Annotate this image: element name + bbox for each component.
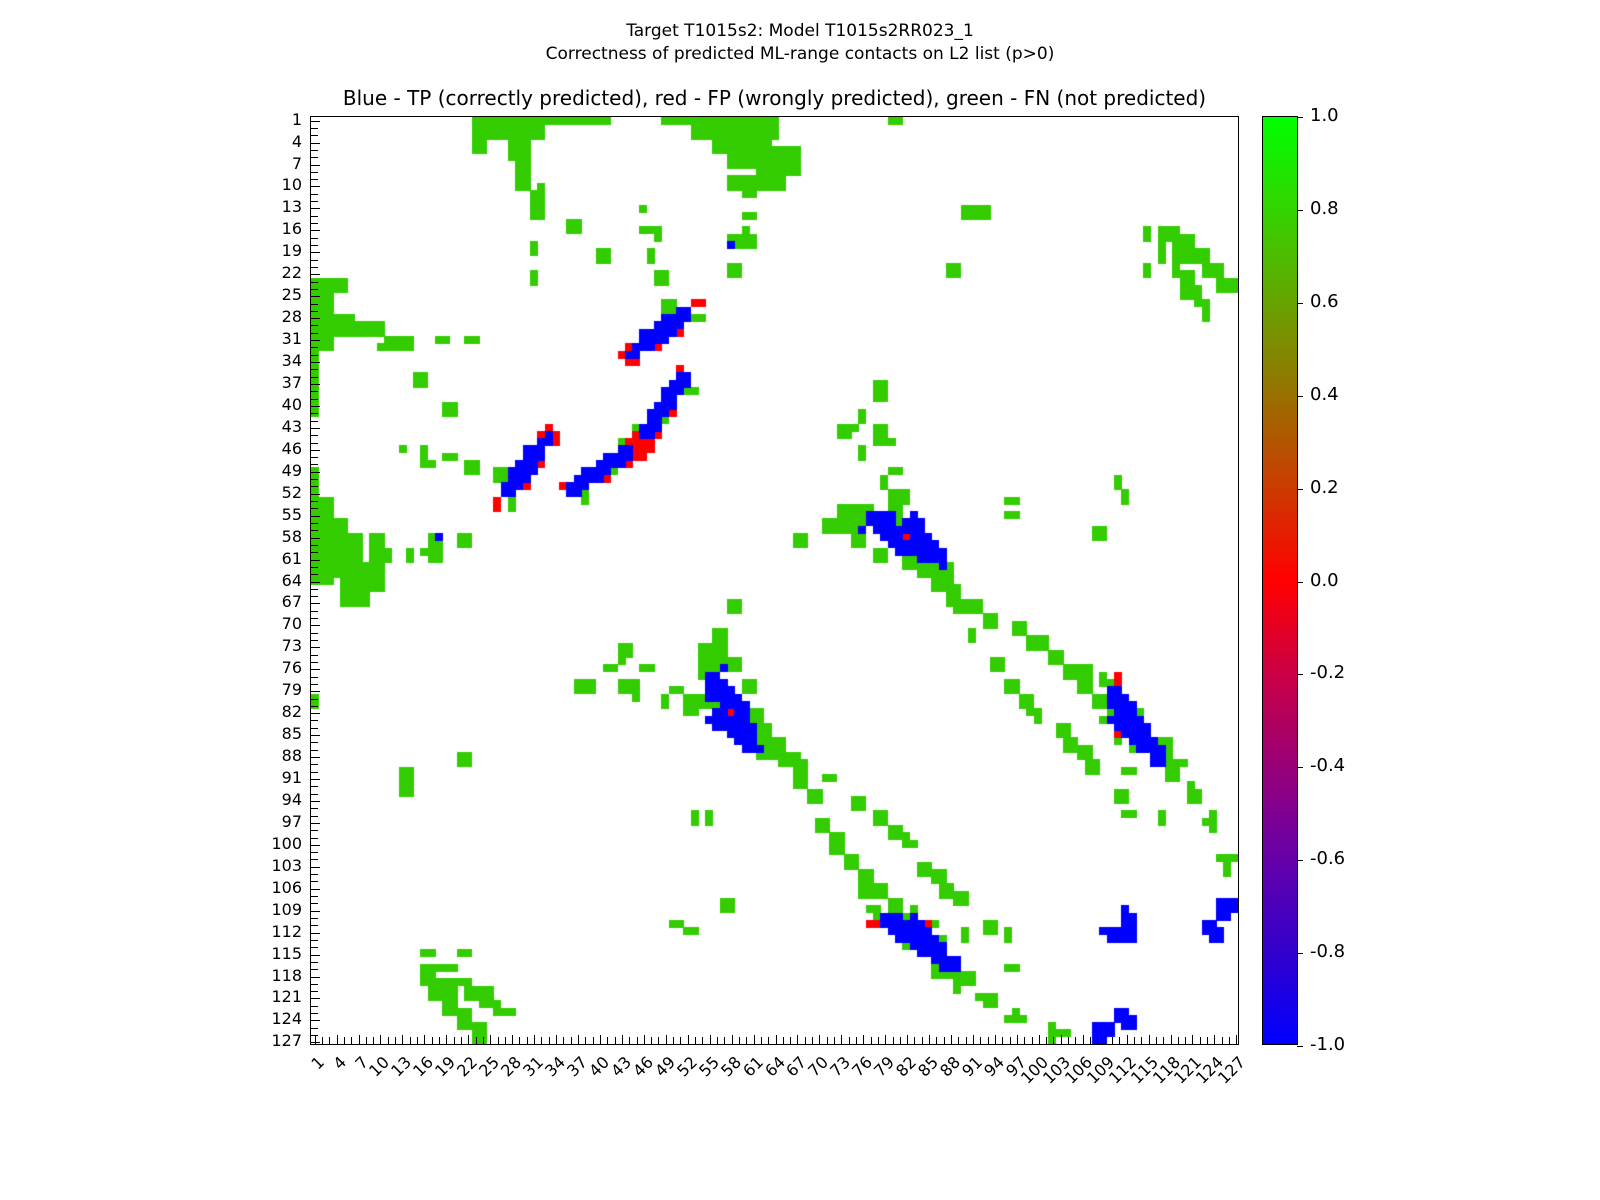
- y-axis-tick: [311, 1006, 318, 1007]
- y-axis-tick: [311, 355, 318, 356]
- y-axis-tick: [311, 720, 318, 721]
- x-axis-tick: [1090, 1037, 1091, 1044]
- x-axis-label: 106: [1044, 1054, 1095, 1105]
- y-axis-tick: [311, 362, 320, 363]
- y-axis-tick: [311, 728, 318, 729]
- y-axis-tick: [311, 786, 318, 787]
- y-axis-label: 4: [242, 134, 302, 150]
- y-axis-label: 127: [242, 1033, 302, 1049]
- y-axis-tick: [311, 808, 318, 809]
- x-axis-tick: [1156, 1037, 1157, 1044]
- colorbar-tick-label: 0.8: [1310, 200, 1339, 218]
- y-axis-tick: [311, 384, 320, 385]
- x-axis-tick: [505, 1037, 506, 1044]
- y-axis-tick: [311, 647, 320, 648]
- y-axis-tick: [311, 603, 320, 604]
- x-axis-tick: [746, 1037, 747, 1044]
- x-axis-label: 49: [627, 1054, 678, 1105]
- y-axis-label: 7: [242, 156, 302, 172]
- y-axis-tick: [311, 150, 318, 151]
- figure-root: Target T1015s2: Model T1015s2RR023_1 Cor…: [0, 0, 1600, 1200]
- legend-subtitle: Blue - TP (correctly predicted), red - F…: [310, 86, 1239, 110]
- y-axis-label: 124: [242, 1011, 302, 1027]
- y-axis-tick: [311, 830, 318, 831]
- y-axis-tick: [311, 962, 318, 963]
- y-axis-label: 85: [242, 726, 302, 742]
- x-axis-label: 13: [364, 1054, 415, 1105]
- x-axis-tick: [790, 1037, 791, 1044]
- y-axis-tick: [311, 311, 318, 312]
- y-axis-label: 19: [242, 243, 302, 259]
- y-axis-label: 28: [242, 309, 302, 325]
- y-axis-tick: [311, 552, 318, 553]
- y-axis-label: 103: [242, 858, 302, 874]
- y-axis-tick: [311, 538, 320, 539]
- x-axis-label: 22: [430, 1054, 481, 1105]
- x-axis-label: 94: [956, 1054, 1007, 1105]
- x-axis-tick: [359, 1035, 360, 1044]
- y-axis-tick: [311, 772, 318, 773]
- x-axis-tick: [907, 1035, 908, 1044]
- y-axis-tick: [311, 238, 318, 239]
- x-axis-tick: [1053, 1037, 1054, 1044]
- x-axis-label: 109: [1066, 1054, 1117, 1105]
- x-axis-tick: [549, 1037, 550, 1044]
- y-axis-tick: [311, 377, 318, 378]
- y-axis-tick: [311, 443, 318, 444]
- x-axis-tick: [944, 1037, 945, 1044]
- colorbar-tick-label: 0.6: [1310, 293, 1339, 311]
- y-axis-tick: [311, 121, 320, 122]
- y-axis-label: 61: [242, 551, 302, 567]
- x-axis-tick: [878, 1037, 879, 1044]
- y-axis-tick: [311, 523, 318, 524]
- y-axis-tick: [311, 625, 320, 626]
- x-axis-tick: [541, 1037, 542, 1044]
- y-axis-label: 31: [242, 331, 302, 347]
- y-axis-tick: [311, 245, 318, 246]
- x-axis-label: 103: [1022, 1054, 1073, 1105]
- y-axis-tick: [311, 618, 318, 619]
- y-axis-tick: [311, 333, 318, 334]
- y-axis-tick: [311, 991, 318, 992]
- x-axis-label: 7: [320, 1054, 371, 1105]
- y-axis-tick: [311, 369, 318, 370]
- y-axis-tick: [311, 304, 318, 305]
- y-axis-tick: [311, 969, 318, 970]
- x-axis-tick: [498, 1037, 499, 1044]
- x-axis-tick: [827, 1037, 828, 1044]
- y-axis-tick: [311, 867, 320, 868]
- colorbar-tick-label: -0.8: [1310, 943, 1345, 961]
- y-axis-tick: [311, 179, 318, 180]
- y-axis-tick: [311, 325, 318, 326]
- contact-map-canvas[interactable]: [311, 117, 1238, 1044]
- y-axis-tick: [311, 318, 320, 319]
- x-axis-tick: [739, 1037, 740, 1044]
- y-axis-label: 10: [242, 177, 302, 193]
- y-axis-label: 106: [242, 880, 302, 896]
- y-axis-tick: [311, 201, 318, 202]
- y-axis-tick: [311, 479, 318, 480]
- y-axis-tick: [311, 508, 318, 509]
- x-axis-tick: [1105, 1035, 1106, 1044]
- y-axis-tick: [311, 933, 320, 934]
- y-axis-tick: [311, 779, 320, 780]
- x-axis-tick: [834, 1037, 835, 1044]
- x-axis-tick: [1097, 1037, 1098, 1044]
- x-axis-tick: [607, 1037, 608, 1044]
- x-axis-tick: [1046, 1037, 1047, 1044]
- colorbar-tick: [1297, 953, 1303, 954]
- y-axis-tick: [311, 669, 320, 670]
- y-axis-tick: [311, 735, 320, 736]
- y-axis-tick: [311, 494, 320, 495]
- y-axis-tick: [311, 574, 318, 575]
- y-axis-tick: [311, 750, 318, 751]
- x-axis-label: 55: [671, 1054, 722, 1105]
- x-axis-tick: [805, 1037, 806, 1044]
- x-axis-tick: [366, 1037, 367, 1044]
- x-axis-tick: [900, 1037, 901, 1044]
- y-axis-tick: [311, 596, 318, 597]
- y-axis-label: 70: [242, 616, 302, 632]
- x-axis-tick: [395, 1037, 396, 1044]
- x-axis-tick: [958, 1037, 959, 1044]
- y-axis-tick: [311, 457, 318, 458]
- y-axis-tick: [311, 816, 318, 817]
- x-axis-label: 61: [715, 1054, 766, 1105]
- y-axis-tick: [311, 282, 318, 283]
- x-axis-tick: [761, 1037, 762, 1044]
- y-axis-tick: [311, 399, 318, 400]
- x-axis-tick: [1032, 1037, 1033, 1044]
- x-axis-tick: [871, 1037, 872, 1044]
- x-axis-tick: [388, 1037, 389, 1044]
- x-axis-tick: [1214, 1035, 1215, 1044]
- x-axis-tick: [1192, 1035, 1193, 1044]
- colorbar-tick-label: 0.4: [1310, 386, 1339, 404]
- x-axis-tick: [1127, 1035, 1128, 1044]
- x-axis-tick: [585, 1037, 586, 1044]
- y-axis-label: 109: [242, 902, 302, 918]
- y-axis-tick: [311, 742, 318, 743]
- x-axis-tick: [1178, 1037, 1179, 1044]
- y-axis-label: 58: [242, 529, 302, 545]
- x-axis-label: 4: [298, 1054, 349, 1105]
- x-axis-tick: [783, 1037, 784, 1044]
- x-axis-tick: [1010, 1037, 1011, 1044]
- colorbar-tick: [1297, 210, 1303, 211]
- x-axis-label: 40: [561, 1054, 612, 1105]
- y-axis-tick: [311, 289, 318, 290]
- x-axis-tick: [534, 1035, 535, 1044]
- y-axis-tick: [311, 340, 320, 341]
- x-axis-tick: [966, 1037, 967, 1044]
- y-axis-tick: [311, 640, 318, 641]
- y-axis-tick: [311, 838, 318, 839]
- x-axis-label: 112: [1088, 1054, 1139, 1105]
- y-axis-tick: [311, 911, 320, 912]
- x-axis-tick: [563, 1037, 564, 1044]
- x-axis-label: 100: [1000, 1054, 1051, 1105]
- x-axis-tick: [1149, 1035, 1150, 1044]
- x-axis-label: 88: [912, 1054, 963, 1105]
- y-axis-label: 88: [242, 748, 302, 764]
- x-axis-tick: [454, 1037, 455, 1044]
- y-axis-tick: [311, 1013, 318, 1014]
- y-axis-tick: [311, 947, 318, 948]
- x-axis-tick: [929, 1035, 930, 1044]
- colorbar-tick: [1297, 117, 1303, 118]
- y-axis-label: 97: [242, 814, 302, 830]
- x-axis-tick: [936, 1037, 937, 1044]
- x-axis-tick: [432, 1037, 433, 1044]
- y-axis-label: 82: [242, 704, 302, 720]
- y-axis-tick: [311, 903, 318, 904]
- x-axis-tick: [658, 1037, 659, 1044]
- x-axis-tick: [980, 1037, 981, 1044]
- x-axis-label: 52: [649, 1054, 700, 1105]
- y-axis-label: 52: [242, 485, 302, 501]
- x-axis-label: 25: [452, 1054, 503, 1105]
- x-axis-tick: [483, 1037, 484, 1044]
- x-axis-tick: [1185, 1037, 1186, 1044]
- y-axis-label: 43: [242, 419, 302, 435]
- x-axis-label: 70: [781, 1054, 832, 1105]
- x-axis-tick: [995, 1035, 996, 1044]
- x-axis-tick: [702, 1037, 703, 1044]
- x-axis-tick: [468, 1035, 469, 1044]
- x-axis-label: 124: [1176, 1054, 1227, 1105]
- y-axis-label: 76: [242, 660, 302, 676]
- x-axis-tick: [951, 1035, 952, 1044]
- colorbar-tick-label: -0.4: [1310, 757, 1345, 775]
- x-axis-tick: [490, 1035, 491, 1044]
- x-axis-tick: [1075, 1037, 1076, 1044]
- x-axis-tick: [439, 1037, 440, 1044]
- y-axis-label: 46: [242, 441, 302, 457]
- x-axis-tick: [1068, 1037, 1069, 1044]
- colorbar-tick: [1297, 674, 1303, 675]
- colorbar-tick-label: 0.0: [1310, 572, 1339, 590]
- x-axis-tick: [680, 1037, 681, 1044]
- x-axis-tick: [622, 1035, 623, 1044]
- x-axis-label: 91: [934, 1054, 985, 1105]
- x-axis-tick: [527, 1037, 528, 1044]
- x-axis-tick: [351, 1037, 352, 1044]
- x-axis-tick: [1236, 1035, 1237, 1044]
- colorbar[interactable]: [1262, 116, 1298, 1045]
- x-axis-tick: [512, 1035, 513, 1044]
- x-axis-tick: [644, 1035, 645, 1044]
- y-axis-tick: [311, 252, 320, 253]
- x-axis-tick: [1119, 1037, 1120, 1044]
- y-axis-tick: [311, 413, 318, 414]
- y-axis-label: 79: [242, 682, 302, 698]
- colorbar-tick-label: 1.0: [1310, 107, 1339, 125]
- y-axis-tick: [311, 157, 318, 158]
- y-axis-tick: [311, 955, 320, 956]
- y-axis-tick: [311, 501, 318, 502]
- x-axis-tick: [754, 1035, 755, 1044]
- y-axis-label: 25: [242, 287, 302, 303]
- x-axis-tick: [629, 1037, 630, 1044]
- x-axis-tick: [593, 1037, 594, 1044]
- y-axis-tick: [311, 1020, 320, 1021]
- x-axis-tick: [1083, 1035, 1084, 1044]
- y-axis-label: 40: [242, 397, 302, 413]
- x-axis-tick: [1039, 1035, 1040, 1044]
- x-axis-label: 58: [693, 1054, 744, 1105]
- x-axis-tick: [922, 1037, 923, 1044]
- x-axis-tick: [688, 1035, 689, 1044]
- x-axis-label: 85: [891, 1054, 942, 1105]
- x-axis-label: 43: [583, 1054, 634, 1105]
- x-axis-tick: [856, 1037, 857, 1044]
- y-axis-tick: [311, 889, 320, 890]
- title-line-1: Target T1015s2: Model T1015s2RR023_1: [0, 20, 1600, 43]
- colorbar-tick-label: -0.6: [1310, 850, 1345, 868]
- x-axis-tick: [732, 1035, 733, 1044]
- x-axis-label: 64: [737, 1054, 788, 1105]
- y-axis-tick: [311, 472, 320, 473]
- x-axis-tick: [666, 1035, 667, 1044]
- y-axis-tick: [311, 582, 320, 583]
- x-axis-tick: [519, 1037, 520, 1044]
- y-axis-label: 73: [242, 638, 302, 654]
- y-axis-tick: [311, 896, 318, 897]
- x-axis-tick: [710, 1035, 711, 1044]
- y-axis-tick: [311, 435, 318, 436]
- x-axis-tick: [446, 1035, 447, 1044]
- y-axis-tick: [311, 450, 320, 451]
- x-axis-tick: [322, 1037, 323, 1044]
- x-axis-tick: [1171, 1035, 1172, 1044]
- y-axis-tick: [311, 655, 318, 656]
- x-axis-label: 28: [474, 1054, 525, 1105]
- y-axis-label: 67: [242, 594, 302, 610]
- x-axis-tick: [461, 1037, 462, 1044]
- y-axis-tick: [311, 194, 318, 195]
- y-axis-tick: [311, 223, 318, 224]
- y-axis-label: 94: [242, 792, 302, 808]
- colorbar-tick: [1297, 489, 1303, 490]
- x-axis-tick: [1134, 1037, 1135, 1044]
- x-axis-tick: [1207, 1037, 1208, 1044]
- y-axis-label: 91: [242, 770, 302, 786]
- title-line-2: Correctness of predicted ML-range contac…: [0, 43, 1600, 66]
- x-axis-tick: [1017, 1035, 1018, 1044]
- x-axis-tick: [337, 1035, 338, 1044]
- x-axis-tick: [914, 1037, 915, 1044]
- y-axis-label: 55: [242, 507, 302, 523]
- y-axis-tick: [311, 998, 320, 999]
- x-axis-tick: [988, 1037, 989, 1044]
- y-axis-tick: [311, 391, 318, 392]
- y-axis-tick: [311, 801, 320, 802]
- y-axis-tick: [311, 530, 318, 531]
- y-axis-tick: [311, 267, 318, 268]
- x-axis-tick: [893, 1037, 894, 1044]
- x-axis-tick: [819, 1035, 820, 1044]
- x-axis-tick: [863, 1035, 864, 1044]
- x-axis-tick: [1002, 1037, 1003, 1044]
- x-axis-tick: [673, 1037, 674, 1044]
- y-axis-tick: [311, 347, 318, 348]
- x-axis-label: 76: [825, 1054, 876, 1105]
- y-axis-tick: [311, 172, 318, 173]
- y-axis-tick: [311, 699, 318, 700]
- x-axis-label: 1: [276, 1054, 327, 1105]
- y-axis-tick: [311, 486, 318, 487]
- x-axis-tick: [841, 1035, 842, 1044]
- contact-map-plot[interactable]: [310, 116, 1239, 1045]
- y-axis-tick: [311, 464, 318, 465]
- x-axis-label: 19: [408, 1054, 459, 1105]
- x-axis-tick: [1229, 1037, 1230, 1044]
- x-axis-tick: [571, 1037, 572, 1044]
- y-axis-tick: [311, 230, 320, 231]
- x-axis-tick: [615, 1037, 616, 1044]
- y-axis-label: 118: [242, 968, 302, 984]
- y-axis-label: 37: [242, 375, 302, 391]
- y-axis-tick: [311, 984, 318, 985]
- y-axis-tick: [311, 589, 318, 590]
- y-axis-tick: [311, 186, 320, 187]
- y-axis-tick: [311, 135, 318, 136]
- x-axis-tick: [695, 1037, 696, 1044]
- x-axis-tick: [1141, 1037, 1142, 1044]
- x-axis-label: 121: [1154, 1054, 1205, 1105]
- colorbar-tick-label: -1.0: [1310, 1036, 1345, 1054]
- y-axis-tick: [311, 296, 320, 297]
- y-axis-tick: [311, 925, 318, 926]
- y-axis-label: 64: [242, 573, 302, 589]
- x-axis-label: 97: [978, 1054, 1029, 1105]
- x-axis-tick: [651, 1037, 652, 1044]
- colorbar-tick: [1297, 582, 1303, 583]
- x-axis-tick: [1200, 1037, 1201, 1044]
- x-axis-tick: [476, 1037, 477, 1044]
- y-axis-label: 121: [242, 989, 302, 1005]
- x-axis-tick: [402, 1035, 403, 1044]
- y-axis-tick: [311, 757, 320, 758]
- x-axis-tick: [1163, 1037, 1164, 1044]
- x-axis-label: 67: [759, 1054, 810, 1105]
- y-axis-label: 115: [242, 946, 302, 962]
- y-axis-tick: [311, 611, 318, 612]
- x-axis-label: 115: [1110, 1054, 1161, 1105]
- x-axis-tick: [724, 1037, 725, 1044]
- y-axis-label: 13: [242, 199, 302, 215]
- x-axis-tick: [768, 1037, 769, 1044]
- y-axis-tick: [311, 881, 318, 882]
- y-axis-tick: [311, 918, 318, 919]
- x-axis-label: 31: [495, 1054, 546, 1105]
- x-axis-label: 82: [869, 1054, 920, 1105]
- y-axis-tick: [311, 260, 318, 261]
- x-axis-label: 73: [803, 1054, 854, 1105]
- y-axis-tick: [311, 633, 318, 634]
- colorbar-tick-label: -0.2: [1310, 664, 1345, 682]
- colorbar-tick: [1297, 396, 1303, 397]
- y-axis-tick: [311, 706, 318, 707]
- y-axis-tick: [311, 1042, 320, 1043]
- x-axis-label: 46: [605, 1054, 656, 1105]
- y-axis-label: 1: [242, 112, 302, 128]
- y-axis-tick: [311, 874, 318, 875]
